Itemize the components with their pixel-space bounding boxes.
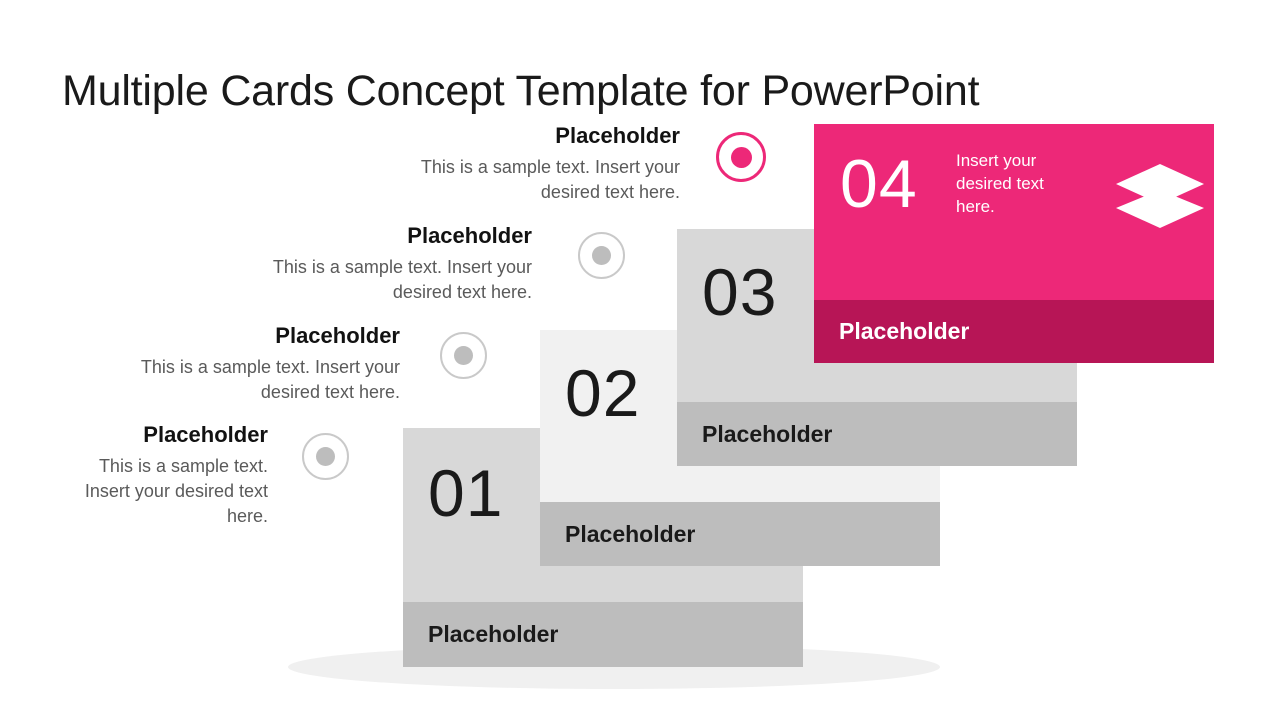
note-item-1: Placeholder This is a sample text. Inser… <box>68 421 268 529</box>
note-1-description: This is a sample text. Insert your desir… <box>68 454 268 530</box>
card-02-number: 02 <box>565 360 640 426</box>
note-4-title: Placeholder <box>380 122 680 150</box>
bullet-dot-2 <box>454 346 473 365</box>
note-item-3: Placeholder This is a sample text. Inser… <box>232 222 532 305</box>
card-04-body-text: Insert your desired text here. <box>956 150 1066 219</box>
bullet-marker-2[interactable] <box>440 332 487 379</box>
slide-canvas: Multiple Cards Concept Template for Powe… <box>0 0 1280 720</box>
note-2-title: Placeholder <box>100 322 400 350</box>
card-01-footer[interactable]: Placeholder <box>403 602 803 667</box>
bullet-dot-4 <box>731 147 752 168</box>
note-1-title: Placeholder <box>68 421 268 449</box>
card-03-number: 03 <box>702 259 777 325</box>
note-3-description: This is a sample text. Insert your desir… <box>232 255 532 305</box>
card-01-number: 01 <box>428 460 503 526</box>
card-04-footer-label: Placeholder <box>814 318 969 345</box>
note-2-description: This is a sample text. Insert your desir… <box>100 355 400 405</box>
bullet-marker-3[interactable] <box>578 232 625 279</box>
note-item-2: Placeholder This is a sample text. Inser… <box>100 322 400 405</box>
layers-icon <box>1114 162 1206 230</box>
page-title: Multiple Cards Concept Template for Powe… <box>62 67 979 116</box>
card-03-footer[interactable]: Placeholder <box>677 402 1077 466</box>
card-04-number: 04 <box>840 150 918 218</box>
note-4-description: This is a sample text. Insert your desir… <box>380 155 680 205</box>
card-04[interactable]: 04 Insert your desired text here. <box>814 124 1214 300</box>
card-04-body: 04 Insert your desired text here. <box>814 124 1214 300</box>
bullet-dot-1 <box>316 447 335 466</box>
card-02-footer[interactable]: Placeholder <box>540 502 940 566</box>
card-01-footer-label: Placeholder <box>403 621 558 648</box>
bullet-marker-4[interactable] <box>716 132 766 182</box>
card-04-footer[interactable]: Placeholder <box>814 300 1214 363</box>
note-3-title: Placeholder <box>232 222 532 250</box>
card-02-footer-label: Placeholder <box>540 521 695 548</box>
bullet-dot-3 <box>592 246 611 265</box>
bullet-marker-1[interactable] <box>302 433 349 480</box>
note-item-4: Placeholder This is a sample text. Inser… <box>380 122 680 205</box>
card-03-footer-label: Placeholder <box>677 421 832 448</box>
